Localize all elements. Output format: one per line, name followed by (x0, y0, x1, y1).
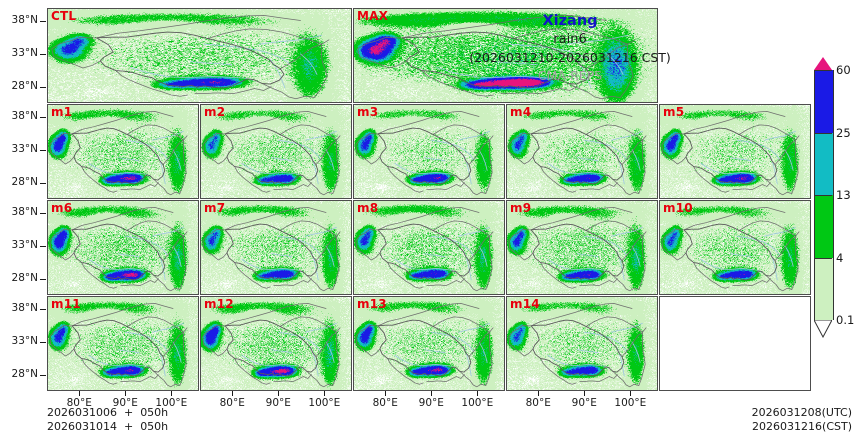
map-panel-ctl: CTL (47, 8, 352, 103)
panel-label-m6: m6 (51, 202, 72, 215)
colorbar-over-arrow (814, 57, 832, 70)
title-block: Xizang rain6 (2026031210-2026031216 CST)… (420, 12, 720, 85)
map-panel-m3: m3 (353, 104, 505, 199)
y-axis-tick-mark (40, 342, 46, 343)
colorbar-tick-label: 25 (836, 126, 851, 140)
x-axis-tick-mark (385, 391, 386, 396)
precip-raster-ctl (48, 9, 351, 102)
x-axis-tick-mark (584, 391, 585, 396)
panel-label-m2: m2 (204, 106, 225, 119)
panel-label-m10: m10 (663, 202, 693, 215)
y-axis-tick-label: 38°N (0, 110, 38, 122)
y-axis-tick-label: 28°N (0, 272, 38, 284)
x-axis-tick-label: 90°E (405, 397, 457, 409)
y-axis-tick-mark (40, 117, 46, 118)
colorbar-tick-label: 60 (836, 63, 851, 77)
panel-label-m12: m12 (204, 298, 234, 311)
y-axis-tick-label: 28°N (0, 176, 38, 188)
colorbar-separator (814, 133, 832, 134)
colorbar-segment-25-60 (814, 70, 834, 133)
y-axis-tick-mark (40, 213, 46, 214)
panel-label-ctl: CTL (51, 10, 76, 23)
x-axis-tick-mark (79, 391, 80, 396)
y-axis-tick-mark (40, 246, 46, 247)
title-period: (2026031210-2026031216 CST) (420, 49, 720, 67)
x-axis-tick-mark (431, 391, 432, 396)
panel-label-m7: m7 (204, 202, 225, 215)
colorbar-separator (814, 258, 832, 259)
empty-panel-slot (659, 296, 811, 391)
map-panel-m13: m13 (353, 296, 505, 391)
x-axis-tick-label: 80°E (359, 397, 411, 409)
panel-label-m9: m9 (510, 202, 531, 215)
y-axis-tick-label: 28°N (0, 80, 38, 92)
x-axis-tick-mark (630, 391, 631, 396)
panel-label-m3: m3 (357, 106, 378, 119)
colorbar-under-arrow-outline (814, 320, 832, 338)
title-region: Xizang (420, 12, 720, 31)
footer-left: 2026031006 + 050h 2026031014 + 050h (47, 406, 168, 433)
y-axis-tick-mark (40, 279, 46, 280)
y-axis-tick-label: 38°N (0, 14, 38, 26)
title-variable: rain6 (420, 31, 720, 49)
x-axis-tick-label: 90°E (252, 397, 304, 409)
y-axis-tick-label: 38°N (0, 206, 38, 218)
x-axis-tick-mark (477, 391, 478, 396)
x-axis-tick-label: 100°E (298, 397, 350, 409)
colorbar: 60251340.1 (814, 70, 832, 320)
footer-right: 2026031208(UTC) 2026031216(CST) (752, 406, 852, 433)
colorbar-separator (814, 195, 832, 196)
x-axis-tick-label: 90°E (558, 397, 610, 409)
panel-label-m11: m11 (51, 298, 81, 311)
colorbar-tick-label: 13 (836, 188, 851, 202)
panel-label-m14: m14 (510, 298, 540, 311)
map-panel-m8: m8 (353, 200, 505, 295)
x-axis-tick-mark (278, 391, 279, 396)
y-axis-tick-label: 38°N (0, 302, 38, 314)
x-axis-tick-label: 80°E (512, 397, 564, 409)
panel-label-m13: m13 (357, 298, 387, 311)
map-panel-m2: m2 (200, 104, 352, 199)
map-panel-m5: m5 (659, 104, 811, 199)
map-panel-m12: m12 (200, 296, 352, 391)
panel-label-m1: m1 (51, 106, 72, 119)
map-panel-m7: m7 (200, 200, 352, 295)
y-axis-tick-mark (40, 21, 46, 22)
y-axis-tick-label: 28°N (0, 368, 38, 380)
panel-label-m4: m4 (510, 106, 531, 119)
panel-label-max: MAX (357, 10, 388, 23)
y-axis-tick-label: 33°N (0, 47, 38, 59)
colorbar-tick-label: 4 (836, 251, 843, 265)
y-axis-tick-label: 33°N (0, 335, 38, 347)
x-axis-tick-mark (324, 391, 325, 396)
map-panel-m9: m9 (506, 200, 658, 295)
map-panel-m11: m11 (47, 296, 199, 391)
x-axis-tick-mark (171, 391, 172, 396)
map-panel-m6: m6 (47, 200, 199, 295)
x-axis-tick-mark (125, 391, 126, 396)
y-axis-tick-mark (40, 150, 46, 151)
y-axis-tick-mark (40, 87, 46, 88)
y-axis-tick-mark (40, 183, 46, 184)
y-axis-tick-mark (40, 54, 46, 55)
title-model: CMA-REPS (420, 67, 720, 85)
colorbar-segment-13-25 (814, 133, 834, 196)
x-axis-tick-label: 80°E (206, 397, 258, 409)
x-axis-tick-label: 100°E (604, 397, 656, 409)
colorbar-segment-0.1-4 (814, 258, 834, 321)
colorbar-segment-4-13 (814, 195, 834, 258)
map-panel-m4: m4 (506, 104, 658, 199)
y-axis-tick-mark (40, 309, 46, 310)
map-panel-m14: m14 (506, 296, 658, 391)
panel-label-m8: m8 (357, 202, 378, 215)
x-axis-tick-label: 100°E (451, 397, 503, 409)
colorbar-separator (814, 70, 832, 71)
x-axis-tick-mark (538, 391, 539, 396)
y-axis-tick-mark (40, 375, 46, 376)
y-axis-tick-label: 33°N (0, 239, 38, 251)
panel-label-m5: m5 (663, 106, 684, 119)
map-panel-m10: m10 (659, 200, 811, 295)
colorbar-tick-label: 0.1 (836, 313, 854, 327)
x-axis-tick-mark (232, 391, 233, 396)
map-panel-m1: m1 (47, 104, 199, 199)
y-axis-tick-label: 33°N (0, 143, 38, 155)
